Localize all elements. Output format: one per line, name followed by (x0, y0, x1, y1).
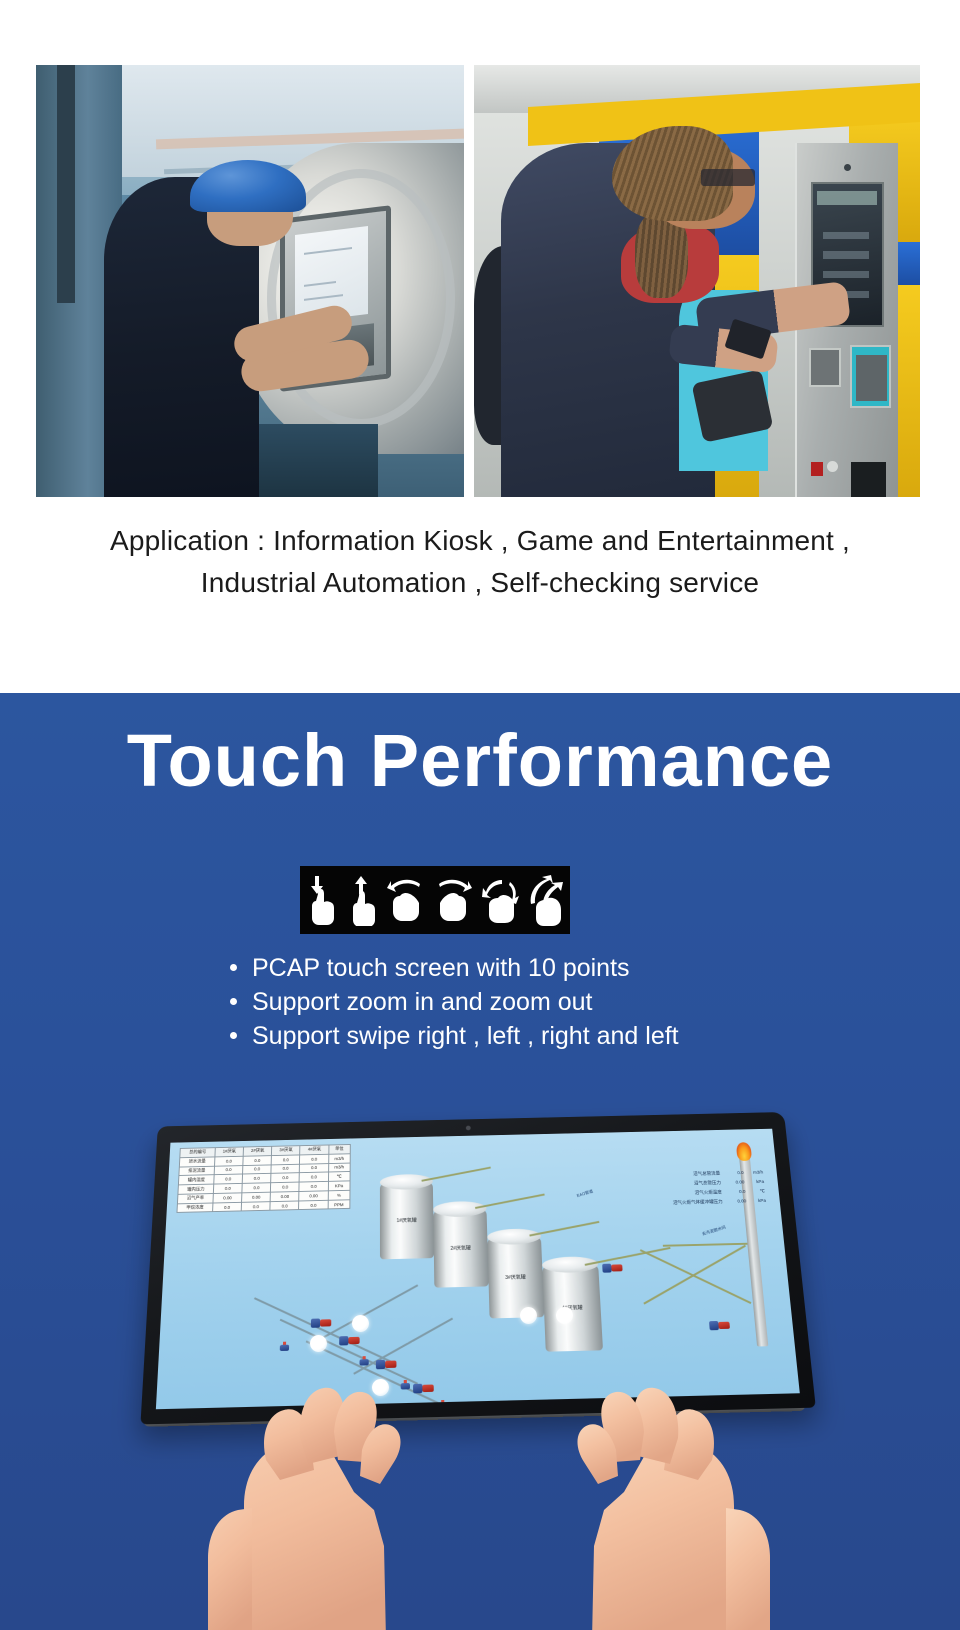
hmi-screen-line (304, 294, 343, 301)
gas-pipe (529, 1221, 599, 1237)
list-item: Support swipe right , left , right and l… (224, 1019, 864, 1053)
tap-down-gesture-icon (304, 874, 338, 926)
scada-readout-unit: ℃ (760, 1189, 766, 1195)
table-cell: ℃ (328, 1172, 350, 1182)
application-photo-row (36, 65, 924, 497)
tablet-multitouch-demo: 总的编号 1#厌氧 2#厌氧 3#厌氧 4#厌氧 单位 进水流量0.00.00.… (120, 1111, 840, 1630)
customer-glasses (701, 169, 755, 186)
bullet-dot-icon (230, 998, 237, 1005)
application-caption-line-2: Industrial Automation , Self-checking se… (0, 562, 960, 604)
bullet-dot-icon (230, 964, 237, 971)
kiosk-red-button[interactable] (811, 462, 823, 476)
scada-readout-value: 0.0 (739, 1189, 746, 1194)
hmi-screen-line (304, 247, 352, 255)
touch-feature-list: PCAP touch screen with 10 points Support… (224, 951, 864, 1053)
right-hand (500, 1310, 830, 1630)
kiosk-screen-row (823, 232, 870, 239)
table-cell: % (328, 1190, 350, 1200)
pump-unit (602, 1263, 623, 1272)
digester-tank-label: 3#厌氧罐 (488, 1273, 542, 1281)
pillar-vent (57, 65, 74, 303)
list-item: PCAP touch screen with 10 points (224, 951, 864, 985)
scada-readout: 沼气总管流量 (693, 1171, 720, 1177)
gesture-icon-strip (300, 866, 570, 934)
application-caption-line-1: Application : Information Kiosk , Game a… (0, 520, 960, 562)
kiosk-receipt-slot (809, 348, 841, 387)
kiosk-pinpad[interactable] (856, 355, 886, 401)
scada-readout-value: 0.0 (737, 1170, 744, 1175)
list-item-label: PCAP touch screen with 10 points (252, 954, 630, 982)
table-cell: 甲烷浓度 (177, 1203, 213, 1213)
self-service-kiosk-photo (474, 65, 920, 497)
pinch-zoom-gesture-icon (527, 874, 567, 926)
touch-performance-section: Touch Performance (0, 693, 960, 1630)
industrial-automation-photo (36, 65, 464, 497)
list-item: Support zoom in and zoom out (224, 985, 864, 1019)
tablet-camera-icon (465, 1126, 470, 1131)
application-caption: Application : Information Kiosk , Game a… (0, 520, 960, 604)
table-cell: 0.0 (213, 1202, 242, 1212)
table-cell: PPM (328, 1199, 350, 1209)
table-cell: 0.0 (270, 1201, 299, 1211)
kiosk-screen-header (817, 191, 877, 205)
swipe-left-gesture-icon (386, 874, 426, 926)
kiosk-screen-row (823, 251, 870, 258)
scada-data-table: 总的编号 1#厌氧 2#厌氧 3#厌氧 4#厌氧 单位 进水流量0.00.00.… (176, 1144, 350, 1213)
table-cell: 0.0 (241, 1201, 270, 1211)
scada-readout-unit: m3/h (753, 1170, 763, 1175)
list-item-label: Support swipe right , left , right and l… (252, 1022, 679, 1050)
digester-tank: 2#厌氧罐 (433, 1208, 488, 1287)
kiosk-parcel-slot (851, 462, 885, 497)
kiosk-screen-row (823, 271, 870, 278)
page-title: Touch Performance (0, 718, 960, 803)
digester-tank-label: 1#厌氧罐 (380, 1216, 433, 1224)
scada-tag: EAO管道 (576, 1189, 594, 1199)
gas-pipe (421, 1167, 490, 1182)
digester-tank-label: 2#厌氧罐 (434, 1244, 488, 1252)
flare-flame-icon (736, 1142, 752, 1161)
scada-readout-unit: kPa (756, 1179, 764, 1184)
process-pipe (643, 1245, 746, 1305)
scada-readout: 沼气火炬气体缓冲罐压力 (673, 1199, 723, 1206)
process-pipe (663, 1243, 753, 1247)
application-section: Application : Information Kiosk , Game a… (0, 0, 960, 693)
digester-tank: 3#厌氧罐 (487, 1236, 544, 1318)
scada-tag: 去污泥脱水间 (701, 1225, 726, 1238)
list-item-label: Support zoom in and zoom out (252, 988, 592, 1016)
table-cell: KPa (328, 1181, 350, 1191)
kiosk-gray-button[interactable] (827, 461, 838, 472)
kiosk-camera-icon (844, 164, 851, 171)
scada-readout: 沼气火炬温度 (695, 1190, 723, 1196)
rotate-gesture-icon (480, 874, 520, 926)
left-hand (148, 1310, 478, 1630)
gas-pipe (475, 1194, 545, 1209)
swipe-right-gesture-icon (433, 874, 473, 926)
swipe-up-gesture-icon (345, 874, 379, 926)
bullet-dot-icon (230, 1032, 237, 1039)
scada-readout-unit: kPa (758, 1198, 766, 1203)
hmi-screen-line (304, 281, 336, 287)
table-cell: 0.0 (299, 1200, 328, 1210)
scada-readout-value: 0.00 (737, 1199, 746, 1204)
scada-readout: 沼气总管压力 (694, 1180, 721, 1186)
scada-readout-value: 0.00 (735, 1180, 744, 1185)
digester-tank: 1#厌氧罐 (380, 1181, 434, 1259)
